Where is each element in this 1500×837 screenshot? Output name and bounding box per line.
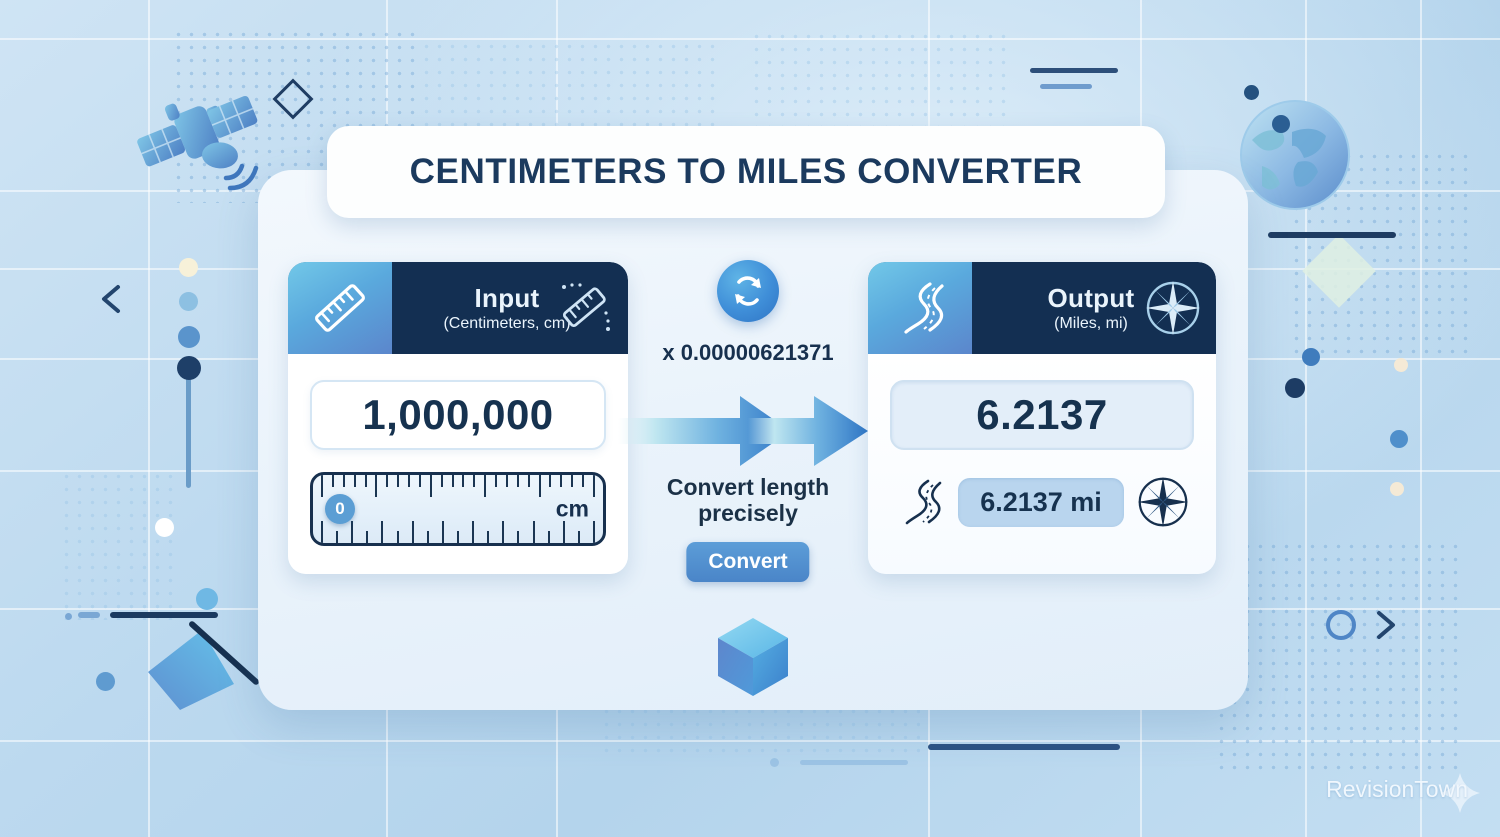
input-panel-header: Input (Centimeters, cm) bbox=[288, 262, 628, 354]
decor-dot bbox=[177, 356, 201, 380]
decor-bar bbox=[110, 612, 218, 618]
title-banner: CENTIMETERS TO MILES CONVERTER bbox=[327, 126, 1165, 218]
diamond-outline-shape bbox=[272, 78, 314, 120]
decor-dot bbox=[1302, 348, 1320, 366]
input-panel: Input (Centimeters, cm) bbox=[288, 262, 628, 574]
double-arrow-right-icon bbox=[618, 386, 880, 476]
ruler-widget[interactable]: 0 cm bbox=[310, 472, 606, 546]
ruler-unit-label: cm bbox=[556, 496, 589, 523]
input-panel-heading: Input bbox=[474, 283, 539, 314]
compass-rose-icon bbox=[1136, 475, 1190, 529]
watermark-text: RevisionTown bbox=[1326, 776, 1468, 803]
output-panel-body: 6.2137 6.2137 mi bbox=[868, 354, 1216, 574]
watermark: RevisionTown bbox=[1326, 776, 1468, 803]
caption-line-2: precisely bbox=[633, 500, 863, 526]
gradient-quadrilateral-shape bbox=[140, 622, 250, 717]
ruler-measure-icon bbox=[554, 277, 616, 339]
ruler-zero-marker: 0 bbox=[325, 494, 355, 524]
decor-bar bbox=[800, 760, 908, 765]
output-panel: Output (Miles, mi) 6.2137 bbox=[868, 262, 1216, 574]
poster-canvas: CENTIMETERS TO MILES CONVERTER I bbox=[0, 0, 1500, 837]
decor-dot bbox=[178, 326, 200, 348]
decor-dot bbox=[770, 758, 779, 767]
decor-bar bbox=[1040, 84, 1092, 89]
decor-bar bbox=[78, 612, 100, 618]
input-value-field[interactable]: 1,000,000 bbox=[310, 380, 606, 450]
conversion-factor: x 0.00000621371 bbox=[662, 340, 833, 366]
input-value: 1,000,000 bbox=[362, 391, 553, 439]
sync-refresh-icon[interactable] bbox=[717, 260, 779, 322]
decor-dot bbox=[155, 518, 174, 537]
decor-bar bbox=[1030, 68, 1118, 73]
convert-button[interactable]: Convert bbox=[686, 542, 809, 582]
output-panel-subheading: (Miles, mi) bbox=[1054, 315, 1128, 333]
decor-dot bbox=[1244, 85, 1259, 100]
decor-dot bbox=[1285, 378, 1305, 398]
compass-rose-icon bbox=[1142, 277, 1204, 339]
input-panel-subheading: (Centimeters, cm) bbox=[443, 315, 570, 333]
ruler-icon bbox=[288, 262, 392, 354]
page-title: CENTIMETERS TO MILES CONVERTER bbox=[410, 152, 1083, 192]
globe-icon bbox=[1236, 96, 1354, 214]
caption-line-1: Convert length bbox=[633, 474, 863, 500]
chevron-right-icon bbox=[1368, 608, 1402, 642]
output-panel-heading: Output bbox=[1048, 283, 1135, 314]
decor-dot bbox=[1390, 482, 1404, 496]
conversion-middle-column: x 0.00000621371 Convert length precisely bbox=[628, 246, 868, 586]
decor-dot bbox=[1394, 358, 1408, 372]
decor-dot bbox=[1390, 430, 1408, 448]
decor-bar bbox=[928, 744, 1120, 750]
winding-road-icon bbox=[894, 477, 946, 527]
decor-dot bbox=[179, 258, 198, 277]
cube-3d-icon bbox=[712, 614, 794, 700]
output-panel-header: Output (Miles, mi) bbox=[868, 262, 1216, 354]
decor-bar bbox=[1268, 232, 1396, 238]
decor-dot bbox=[196, 588, 218, 610]
circle-outline-shape bbox=[1326, 610, 1356, 640]
decor-bar bbox=[186, 368, 191, 488]
output-result-row: 6.2137 mi bbox=[890, 470, 1194, 534]
decor-dot bbox=[179, 292, 198, 311]
conversion-caption: Convert length precisely bbox=[633, 474, 863, 526]
output-value: 6.2137 bbox=[976, 391, 1107, 439]
result-badge: 6.2137 mi bbox=[958, 478, 1124, 527]
chevron-left-icon bbox=[96, 282, 130, 316]
output-value-field: 6.2137 bbox=[890, 380, 1194, 450]
satellite-icon bbox=[118, 58, 278, 208]
decor-dot bbox=[96, 672, 115, 691]
decor-dot bbox=[65, 613, 72, 620]
input-panel-body: 1,000,000 0 c bbox=[288, 354, 628, 574]
winding-road-icon bbox=[868, 262, 972, 354]
